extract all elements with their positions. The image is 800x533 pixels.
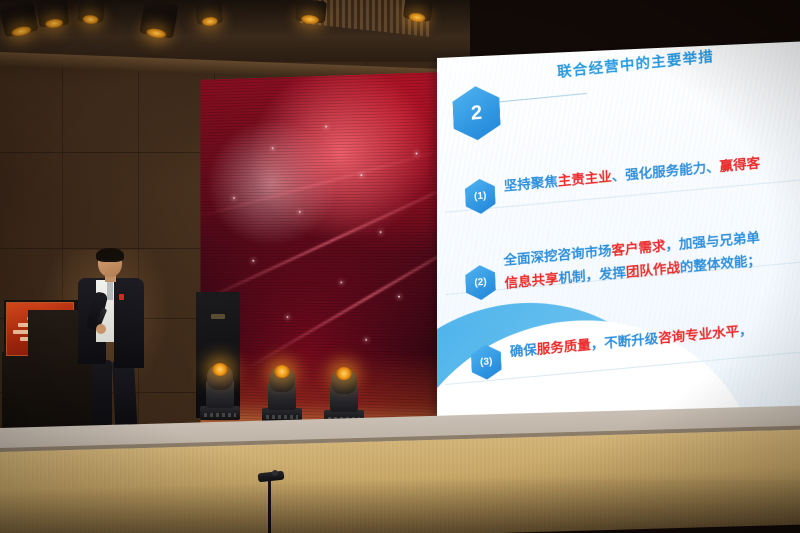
ceiling-light-icon [37,0,70,27]
bullet-marker-icon: (1) [464,178,496,216]
ceiling-light-icon [295,0,327,24]
bullet-text-run: 机制，发挥 [558,265,626,286]
presenter-jacket-right [114,278,144,368]
bullet-marker-label: (1) [474,190,487,202]
bullet-text-run: 确保 [510,342,538,359]
bullet-marker-icon: (3) [470,343,502,381]
moving-head-light-icon [200,358,240,420]
stand-knob [272,470,278,476]
presenter-hand [96,324,106,334]
ceiling-light-icon [139,0,178,39]
presenter-tie [107,280,113,300]
ceiling-light-icon [195,0,223,25]
bullet-text-highlight: 主责主业 [557,169,612,189]
moving-head-light-icon [324,362,364,424]
bullet-text-highlight: 信息共享 [504,271,559,291]
glasses-icon [99,260,121,266]
bullet-text-run: 、强化服务能力、 [611,159,720,184]
photo-scene: 联合经营中的主要举措 2 (1) 坚持聚焦主责主业、强化服务能力、赢得客 [0,0,800,533]
bullet-marker-label: (3) [480,356,493,368]
presentation-slide: 联合经营中的主要举措 2 (1) 坚持聚焦主责主业、强化服务能力、赢得客 [437,41,800,442]
ceiling-light-icon [403,0,434,22]
presenter-lapel-badge [119,294,124,300]
bullet-text-highlight: 赢得客 [719,155,760,174]
moving-head-light-icon [262,360,302,422]
presenter-person [74,250,152,445]
bullet-text-run: 的整体效能； [680,253,762,275]
bullet-text-run: ， [739,322,753,338]
bullet-text-highlight: 服务质量 [536,337,591,357]
bullet-text-highlight: 客户需求 [611,238,666,258]
bullet-marker-label: (2) [474,277,487,289]
bullet-text-highlight: 咨询专业水平 [658,324,740,346]
bullet-text-run: ，不断升级 [590,331,658,352]
bullet-text-run: 坚持聚焦 [504,174,559,194]
foreground-stand-pole [268,478,271,533]
bullet-text-highlight: 团队作战 [626,260,681,280]
bullet-marker-icon: (2) [465,264,497,302]
section-number-label: 2 [470,101,482,125]
ceiling-light-icon [77,0,104,23]
